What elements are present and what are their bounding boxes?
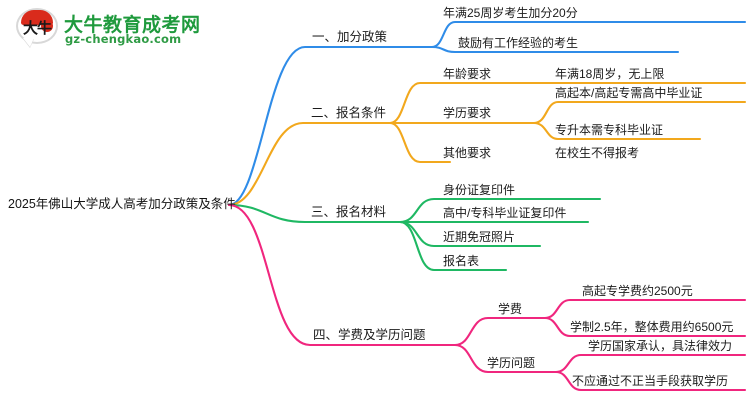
branch-1-label[interactable]: 一、加分政策	[312, 30, 387, 44]
wire-branch2-child2-leaf1	[534, 102, 745, 123]
mindmap-canvas: 大牛 大牛教育成考网 gz-chengkao.com	[0, 0, 750, 410]
branch-3-child-3-label[interactable]: 近期免冠照片	[443, 230, 515, 244]
branch-2-child-1-label[interactable]: 年龄要求	[443, 67, 491, 81]
root-node-label[interactable]: 2025年佛山大学成人高考加分政策及条件	[8, 197, 236, 211]
branch-2-child-2-label[interactable]: 学历要求	[443, 106, 491, 120]
branch-3-child-4-label[interactable]: 报名表	[443, 254, 479, 268]
wire-branch4-child2-leaf1	[556, 355, 745, 372]
wire-root-branch1	[229, 47, 432, 205]
branch-4-child-2-leaf-2-label[interactable]: 不应通过不正当手段获取学历	[572, 374, 728, 388]
branch-2-child-2-leaf-1-label[interactable]: 高起本/高起专需高中毕业证	[555, 86, 702, 100]
branch-2-child-3-leaf-1-label[interactable]: 在校生不得报考	[555, 146, 639, 160]
branch-3-label[interactable]: 三、报名材料	[311, 205, 386, 219]
branch-4-label[interactable]: 四、学费及学历问题	[313, 328, 426, 342]
branch-2-label[interactable]: 二、报名条件	[311, 106, 386, 120]
branch-2-child-2-leaf-2-label[interactable]: 专升本需专科毕业证	[555, 123, 663, 137]
wire-branch4-child1-leaf1	[545, 300, 745, 318]
branch-2-child-1-leaf-1-label[interactable]: 年满18周岁，无上限	[555, 67, 664, 81]
branch-4-child-1-leaf-2-label[interactable]: 学制2.5年，整体费用约6500元	[570, 320, 733, 334]
wire-branch4-child1	[455, 318, 545, 345]
branch-4-child-1-leaf-1-label[interactable]: 高起专学费约2500元	[582, 284, 693, 298]
branch-3-child-1-label[interactable]: 身份证复印件	[443, 183, 515, 197]
branch-3-child-2-label[interactable]: 高中/专科毕业证复印件	[443, 206, 566, 220]
branch-4-child-2-label[interactable]: 学历问题	[487, 356, 535, 370]
branch-1-child-2-label[interactable]: 鼓励有工作经验的考生	[458, 36, 578, 50]
branch-1-child-1-label[interactable]: 年满25周岁考生加分20分	[443, 6, 578, 20]
branch-4-child-2-leaf-1-label[interactable]: 学历国家承认，具法律效力	[588, 339, 732, 353]
wire-branch2-child3	[390, 123, 450, 162]
branch-2-child-3-label[interactable]: 其他要求	[443, 146, 491, 160]
wire-root-branch4	[229, 205, 455, 345]
branch-4-child-1-label[interactable]: 学费	[498, 302, 522, 316]
